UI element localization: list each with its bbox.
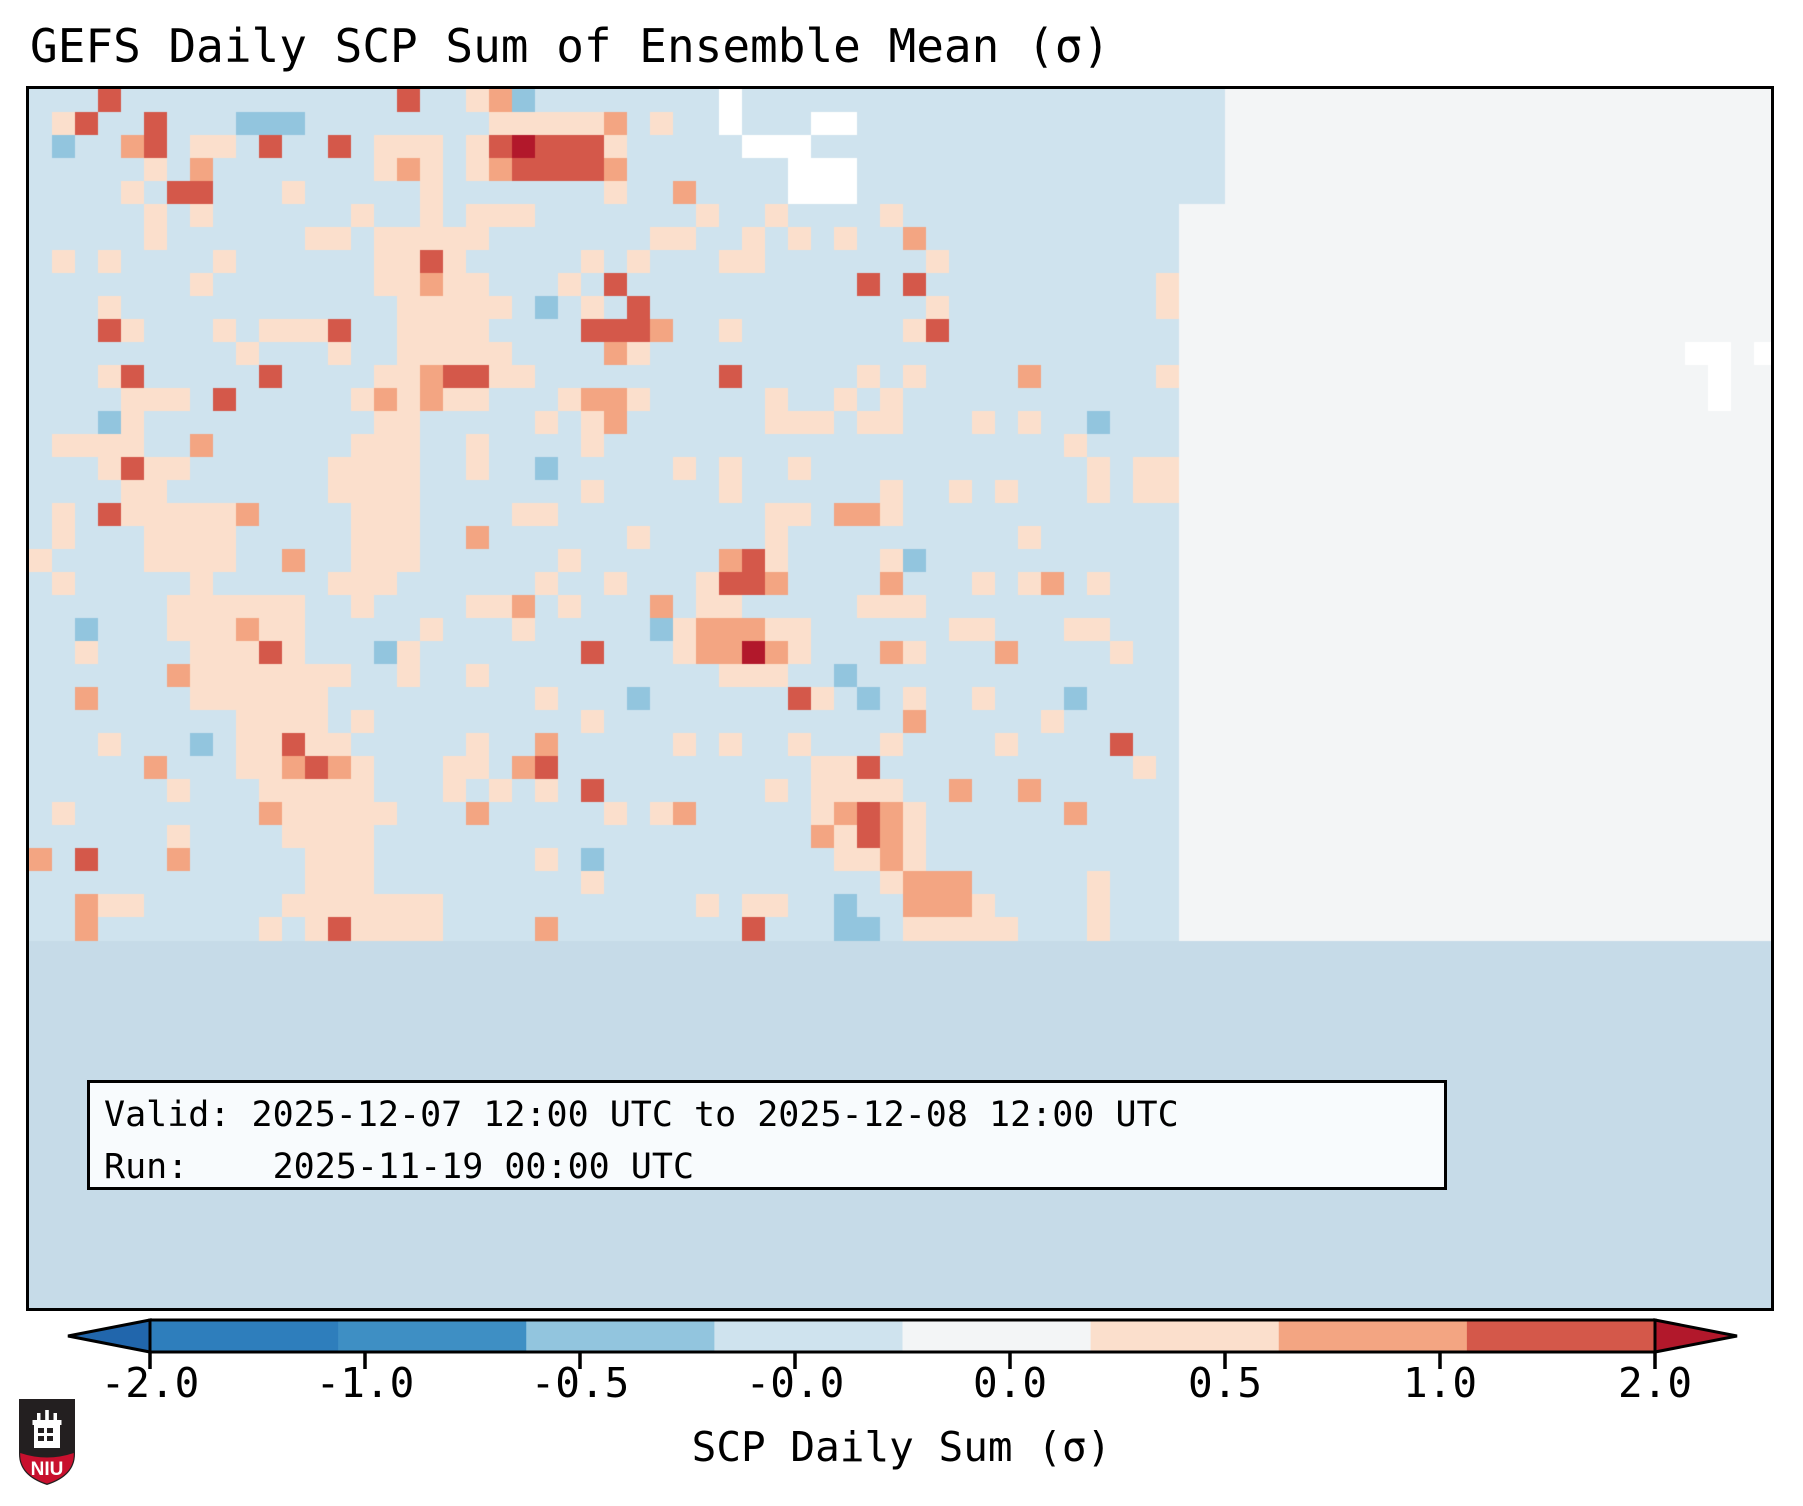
niu-logo[interactable]: NIU	[16, 1396, 78, 1488]
colorbar-tick-label: -0.0	[746, 1358, 845, 1408]
colorbar-tick-label: -2.0	[101, 1358, 200, 1408]
niu-logo-text: NIU	[31, 1459, 64, 1480]
colorbar-band	[1467, 1320, 1656, 1352]
colorbar-over-arrow	[1655, 1320, 1737, 1352]
colorbar-band	[714, 1320, 903, 1352]
colorbar-tick-label: -0.5	[531, 1358, 630, 1408]
colorbar-band	[150, 1320, 339, 1352]
colorbar-band	[903, 1320, 1092, 1352]
colorbar-tick-labels: -2.0-1.0-0.5-0.00.00.51.02.0	[0, 1358, 1803, 1414]
valid-time-line: Valid: 2025-12-07 12:00 UTC to 2025-12-0…	[104, 1089, 1430, 1141]
colorbar-tick-label: 2.0	[1618, 1358, 1692, 1408]
colorbar-band	[526, 1320, 715, 1352]
colorbar-tick-label: 1.0	[1403, 1358, 1477, 1408]
figure-root: GEFS Daily SCP Sum of Ensemble Mean (σ) …	[0, 0, 1803, 1506]
colorbar-tick-label: 0.5	[1188, 1358, 1262, 1408]
colorbar-band	[1091, 1320, 1280, 1352]
colorbar-tick-label: -1.0	[316, 1358, 415, 1408]
run-time-line: Run: 2025-11-19 00:00 UTC	[104, 1141, 1430, 1193]
info-box: Valid: 2025-12-07 12:00 UTC to 2025-12-0…	[87, 1080, 1447, 1190]
colorbar-band	[1279, 1320, 1468, 1352]
colorbar-tick-label: 0.0	[973, 1358, 1047, 1408]
figure-title: GEFS Daily SCP Sum of Ensemble Mean (σ)	[30, 18, 1770, 74]
map-panel[interactable]: Valid: 2025-12-07 12:00 UTC to 2025-12-0…	[26, 86, 1774, 1311]
colorbar-axis-label: SCP Daily Sum (σ)	[0, 1420, 1803, 1474]
colorbar-under-arrow	[68, 1320, 150, 1352]
colorbar-band	[338, 1320, 527, 1352]
